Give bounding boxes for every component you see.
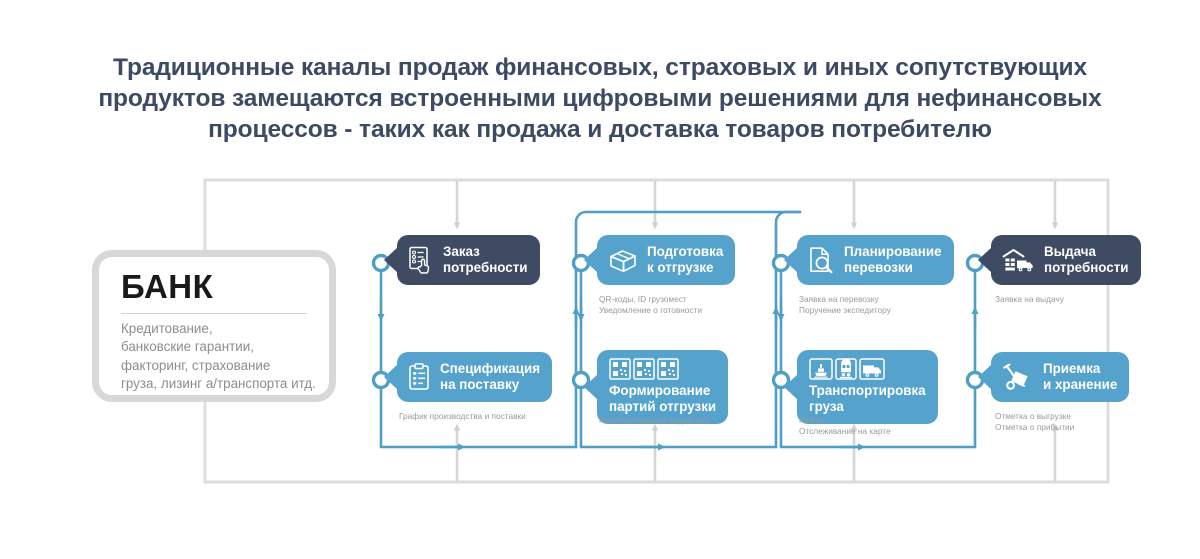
node-caption-podgotovka: QR-коды, ID грузомест Уведомление о гото… [599,294,789,316]
node-caption-specifikaciya: График производства и поставки [399,411,579,422]
node-label: Подготовка к отгрузке [647,244,723,276]
clipboard-icon [408,363,431,391]
node-zakaz-potrebnosti[interactable]: Заказ потребности [397,235,540,285]
node-bubble[interactable]: Заказ потребности [397,235,540,285]
node-label: Заказ потребности [443,244,528,276]
node-label: Транспортировка груза [809,383,926,415]
infographic-canvas: Традиционные каналы продаж финансовых, с… [0,0,1200,559]
node-caption-priemka: Отметка о выгрузке Отметка о прибытии [995,411,1185,433]
node-bubble[interactable]: Приемка и хранение [991,352,1129,402]
node-label: Приемка и хранение [1043,361,1117,393]
node-planirovanie-perevozki[interactable]: Планирование перевозки [797,235,954,285]
node-caption-vydacha: Заявка на выдачу [995,294,1185,305]
bank-desc-line-3: факторинг, страхование [121,357,327,375]
node-bubble[interactable]: Подготовка к отгрузке [597,235,735,285]
bank-title: БАНК [121,268,213,306]
node-label: Планирование перевозки [844,244,942,276]
checklist-hand-icon [408,246,434,275]
bank-desc-line-4: груза, лизинг а/транспорта итд. [121,375,327,393]
bank-divider [121,313,307,314]
node-bubble[interactable]: Спецификация на поставку [397,352,552,402]
node-caption-transportirovka: Рейсы Отслеживание на карте [799,415,989,437]
package-box-icon [608,247,638,274]
node-label: Спецификация на поставку [440,361,540,393]
hand-truck-icon [1002,363,1034,391]
node-bubble[interactable]: Планирование перевозки [797,235,954,285]
node-bubble[interactable]: Формирование партий отгрузки [597,350,728,424]
node-caption-formirovanie: Комплектовочная ведомость [599,415,789,426]
warehouse-truck-icon [1002,247,1035,274]
bank-card: БАНК Кредитование, банковские гарантии, … [92,250,336,402]
node-vydacha-potrebnosti[interactable]: Выдача потребности [991,235,1141,285]
node-podgotovka-k-otgruzke[interactable]: Подготовка к отгрузке [597,235,735,285]
gray-down-arrows [457,181,1055,226]
bank-desc-line-2: банковские гарантии, [121,338,327,356]
ship-train-truck-icon [809,358,885,380]
node-formirovanie-partij-otgruzki[interactable]: Формирование партий отгрузки [597,350,728,424]
node-label: Выдача потребности [1044,244,1129,276]
node-label: Формирование партий отгрузки [609,383,716,415]
document-search-icon [808,246,835,274]
node-bubble[interactable]: Транспортировка груза [797,350,938,424]
node-priemka-i-hranenie[interactable]: Приемка и хранение [991,352,1129,402]
bank-desc-line-1: Кредитование, [121,320,327,338]
node-caption-planirovanie: Заявка на перевозку Поручение экспедитор… [799,294,989,316]
node-bubble[interactable]: Выдача потребности [991,235,1141,285]
node-specifikaciya-na-postavku[interactable]: Спецификация на поставку [397,352,552,402]
qr-codes-icon [609,358,681,380]
bank-description: Кредитование, банковские гарантии, факто… [121,320,327,393]
node-transportirovka-gruza[interactable]: Транспортировка груза [797,350,938,424]
